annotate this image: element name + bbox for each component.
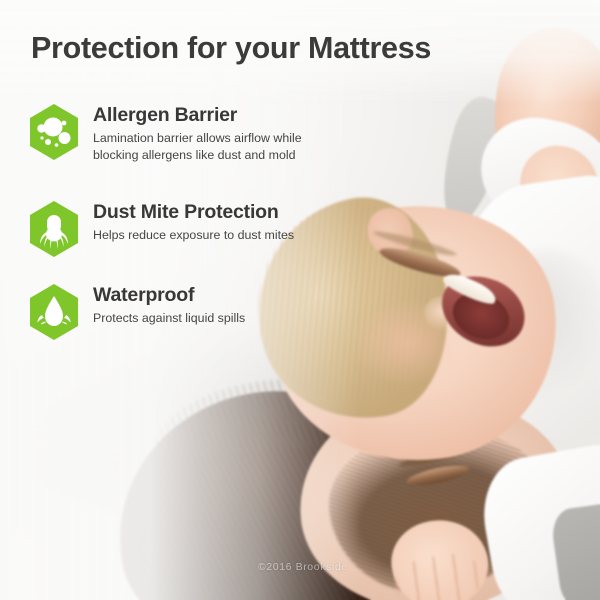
feature-description: Helps reduce exposure to dust mites xyxy=(93,227,294,244)
product-feature-image: Protection for your Mattress Allergen Ba… xyxy=(0,0,600,600)
feature-waterproof: Waterproof Protects against liquid spill… xyxy=(28,283,245,341)
overlay-content: Protection for your Mattress Allergen Ba… xyxy=(0,0,600,600)
feature-description: Lamination barrier allows airflow while … xyxy=(93,130,302,163)
copyright-watermark: ©2016 Brookside xyxy=(258,561,348,573)
page-title: Protection for your Mattress xyxy=(31,31,431,66)
water-droplet-icon xyxy=(28,283,80,341)
feature-description-line: Protects against liquid spills xyxy=(93,310,245,327)
feature-allergen-barrier: Allergen Barrier Lamination barrier allo… xyxy=(28,103,302,164)
feature-text-block: Allergen Barrier Lamination barrier allo… xyxy=(93,103,302,164)
allergen-bubbles-icon xyxy=(28,103,80,161)
feature-text-block: Waterproof Protects against liquid spill… xyxy=(93,283,245,327)
feature-description-line: blocking allergens like dust and mold xyxy=(93,147,302,164)
feature-description-line: Helps reduce exposure to dust mites xyxy=(93,227,294,244)
dust-mite-icon xyxy=(28,200,80,258)
feature-title: Dust Mite Protection xyxy=(93,201,294,223)
feature-title: Waterproof xyxy=(93,284,245,306)
feature-description: Protects against liquid spills xyxy=(93,310,245,327)
feature-dust-mite-protection: Dust Mite Protection Helps reduce exposu… xyxy=(28,200,294,258)
feature-text-block: Dust Mite Protection Helps reduce exposu… xyxy=(93,200,294,244)
feature-title: Allergen Barrier xyxy=(93,104,302,126)
feature-description-line: Lamination barrier allows airflow while xyxy=(93,130,302,147)
